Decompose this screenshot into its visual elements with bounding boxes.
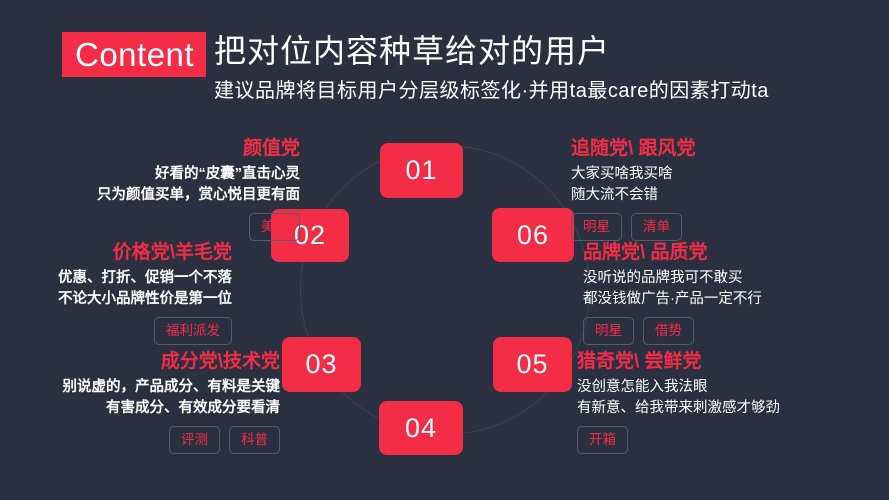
content-badge: Content bbox=[62, 32, 206, 77]
number-badge-04: 04 bbox=[379, 401, 463, 455]
tag-chip[interactable]: 清单 bbox=[631, 213, 682, 241]
segment-tags: 美图 bbox=[0, 213, 300, 241]
segment-line: 只为颜值买单，赏心悦目更有面 bbox=[0, 185, 300, 206]
segment-line: 有新意、给我带来刺激感才够劲 bbox=[577, 398, 887, 419]
segment-tags: 开箱 bbox=[577, 426, 887, 454]
tag-chip[interactable]: 开箱 bbox=[577, 426, 628, 454]
slide-canvas: Content 把对位内容种草给对的用户 建议品牌将目标用户分层级标签化·并用t… bbox=[0, 0, 889, 500]
tag-chip[interactable]: 美图 bbox=[249, 213, 300, 241]
segment-tags: 福利派发 bbox=[0, 317, 232, 345]
tag-chip[interactable]: 明星 bbox=[583, 317, 634, 345]
number-badge-06: 06 bbox=[492, 208, 574, 262]
segment-group-01: 颜值党 好看的“皮囊”直击心灵 只为颜值买单，赏心悦目更有面 美图 bbox=[0, 136, 300, 241]
tag-chip[interactable]: 科普 bbox=[229, 426, 280, 454]
tag-chip[interactable]: 明星 bbox=[571, 213, 622, 241]
segment-line: 大家买啥我买啥 bbox=[571, 164, 871, 185]
tag-chip[interactable]: 评测 bbox=[169, 426, 220, 454]
segment-group-05: 品牌党\ 品质党 没听说的品牌我可不敢买 都没钱做广告·产品一定不行 明星 借势 bbox=[583, 240, 883, 345]
segment-tags: 明星 借势 bbox=[583, 317, 883, 345]
number-badge-01: 01 bbox=[380, 143, 463, 198]
segment-line: 随大流不会错 bbox=[571, 185, 871, 206]
segment-group-02: 价格党\羊毛党 优惠、打折、促销一个不落 不论大小品牌性价是第一位 福利派发 bbox=[0, 240, 232, 345]
segment-line: 好看的“皮囊”直击心灵 bbox=[0, 164, 300, 185]
segment-group-04: 猎奇党\ 尝鲜党 没创意怎能入我法眼 有新意、给我带来刺激感才够劲 开箱 bbox=[577, 349, 887, 454]
number-badge-05: 05 bbox=[493, 337, 572, 392]
segment-line: 都没钱做广告·产品一定不行 bbox=[583, 289, 883, 310]
tag-chip[interactable]: 借势 bbox=[643, 317, 694, 345]
segment-title: 成分党\技术党 bbox=[0, 349, 280, 375]
segment-title: 颜值党 bbox=[0, 136, 300, 162]
segment-title: 追随党\ 跟风党 bbox=[571, 136, 871, 162]
page-subtitle: 建议品牌将目标用户分层级标签化·并用ta最care的因素打动ta bbox=[214, 75, 769, 108]
tag-chip[interactable]: 福利派发 bbox=[154, 317, 232, 345]
page-title: 把对位内容种草给对的用户 bbox=[214, 28, 610, 75]
segment-group-06: 追随党\ 跟风党 大家买啥我买啥 随大流不会错 明星 清单 bbox=[571, 136, 871, 241]
segment-title: 猎奇党\ 尝鲜党 bbox=[577, 349, 887, 375]
segment-line: 有害成分、有效成分要看清 bbox=[0, 398, 280, 419]
header: Content 把对位内容种草给对的用户 建议品牌将目标用户分层级标签化·并用t… bbox=[62, 28, 852, 114]
segment-tags: 明星 清单 bbox=[571, 213, 871, 241]
segment-line: 没创意怎能入我法眼 bbox=[577, 377, 887, 398]
number-badge-03: 03 bbox=[282, 337, 361, 392]
segment-line: 没听说的品牌我可不敢买 bbox=[583, 268, 883, 289]
segment-line: 不论大小品牌性价是第一位 bbox=[0, 289, 232, 310]
segment-line: 优惠、打折、促销一个不落 bbox=[0, 268, 232, 289]
segment-line: 别说虚的，产品成分、有料是关键 bbox=[0, 377, 280, 398]
segment-group-03: 成分党\技术党 别说虚的，产品成分、有料是关键 有害成分、有效成分要看清 评测 … bbox=[0, 349, 280, 454]
segment-title: 价格党\羊毛党 bbox=[0, 240, 232, 266]
segment-tags: 评测 科普 bbox=[0, 426, 280, 454]
segment-title: 品牌党\ 品质党 bbox=[583, 240, 883, 266]
